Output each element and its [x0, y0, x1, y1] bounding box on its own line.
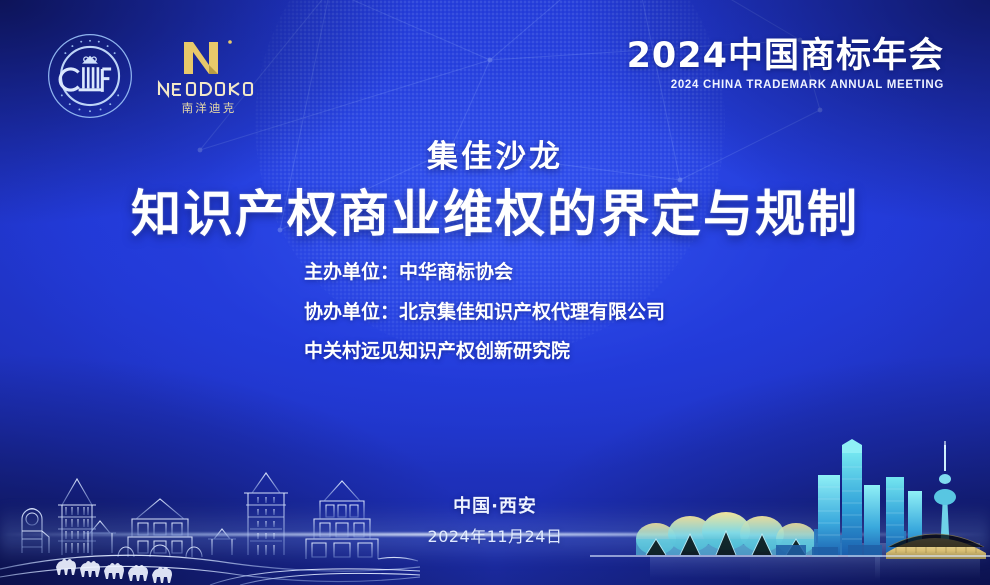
organizer-row: 协办单位： 北京集佳知识产权代理有限公司	[304, 298, 686, 327]
conference-title-en: 2024 CHINA TRADEMARK ANNUAL MEETING	[627, 79, 944, 91]
neodko-chinese-name: 南洋迪克	[182, 100, 237, 116]
conference-poster: 南洋迪克 2024中国商标年会 2024 CHINA TRADEMARK ANN…	[0, 0, 990, 585]
organizer-value: 中关村远见知识产权创新研究院	[304, 337, 686, 366]
salon-label: 集佳沙龙	[0, 131, 990, 176]
organizer-value: 中华商标协会	[399, 258, 686, 287]
event-location-block: 中国·西安 2024年11月24日	[0, 492, 990, 547]
organizer-row: 主办单位： 中华商标协会	[304, 258, 686, 287]
neodko-wordmark-icon	[156, 77, 262, 99]
neodko-n-mark-icon	[178, 36, 240, 76]
page-title: 知识产权商业维权的界定与规制	[0, 174, 990, 246]
organizer-label: 协办单位：	[304, 298, 399, 327]
organizer-label: 主办单位：	[304, 258, 399, 287]
logo-group: 南洋迪克	[46, 32, 262, 120]
event-place: 中国·西安	[0, 492, 990, 518]
china-trademark-association-seal-icon	[46, 32, 134, 120]
organizer-row: 中关村远见知识产权创新研究院	[304, 337, 686, 366]
organizer-list: 主办单位： 中华商标协会 协办单位： 北京集佳知识产权代理有限公司 中关村远见知…	[0, 258, 990, 366]
event-date: 2024年11月24日	[0, 523, 990, 547]
organizer-value: 北京集佳知识产权代理有限公司	[399, 298, 686, 327]
neodko-logo: 南洋迪克	[156, 36, 262, 116]
conference-title-zh: 2024中国商标年会	[627, 36, 944, 76]
conference-title-block: 2024中国商标年会 2024 CHINA TRADEMARK ANNUAL M…	[627, 36, 944, 91]
